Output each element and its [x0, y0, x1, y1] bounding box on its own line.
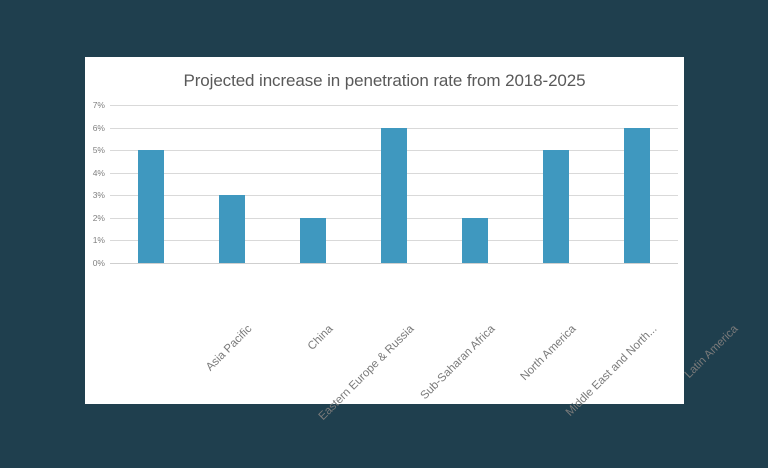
plot-area: 7%6%5%4%3%2%1%0%	[110, 105, 678, 263]
x-axis-tick-label: Sub-Saharan Africa	[418, 323, 497, 402]
y-axis-tick-label: 1%	[93, 235, 105, 245]
y-axis-tick-label: 0%	[93, 258, 105, 268]
bar[interactable]	[543, 150, 569, 263]
x-axis-tick-labels: Asia PacificChinaEastern Europe & Russia…	[195, 323, 763, 433]
bar[interactable]	[624, 128, 650, 263]
x-axis-tick-label: Middle East and North...	[564, 323, 660, 419]
y-axis-tick-label: 7%	[93, 100, 105, 110]
chart-card: Projected increase in penetration rate f…	[85, 57, 684, 404]
y-axis-tick-label: 5%	[93, 145, 105, 155]
y-axis-tick-label: 3%	[93, 190, 105, 200]
x-axis-tick-label: Eastern Europe & Russia	[317, 323, 417, 423]
bar[interactable]	[381, 128, 407, 263]
bar[interactable]	[138, 150, 164, 263]
gridline	[110, 263, 678, 264]
screenshot-canvas: Projected increase in penetration rate f…	[0, 0, 768, 468]
y-axis-tick-label: 4%	[93, 168, 105, 178]
bar[interactable]	[219, 195, 245, 263]
bar[interactable]	[300, 218, 326, 263]
y-axis-tick-label: 2%	[93, 213, 105, 223]
bar[interactable]	[462, 218, 488, 263]
y-axis-tick-label: 6%	[93, 123, 105, 133]
x-axis-tick-label: Latin America	[683, 323, 741, 381]
x-axis-tick-label: North America	[519, 323, 579, 383]
chart-title: Projected increase in penetration rate f…	[85, 71, 684, 91]
x-axis-tick-label: Asia Pacific	[204, 323, 255, 374]
x-axis-tick-label: China	[305, 323, 335, 353]
gridline	[110, 105, 678, 106]
